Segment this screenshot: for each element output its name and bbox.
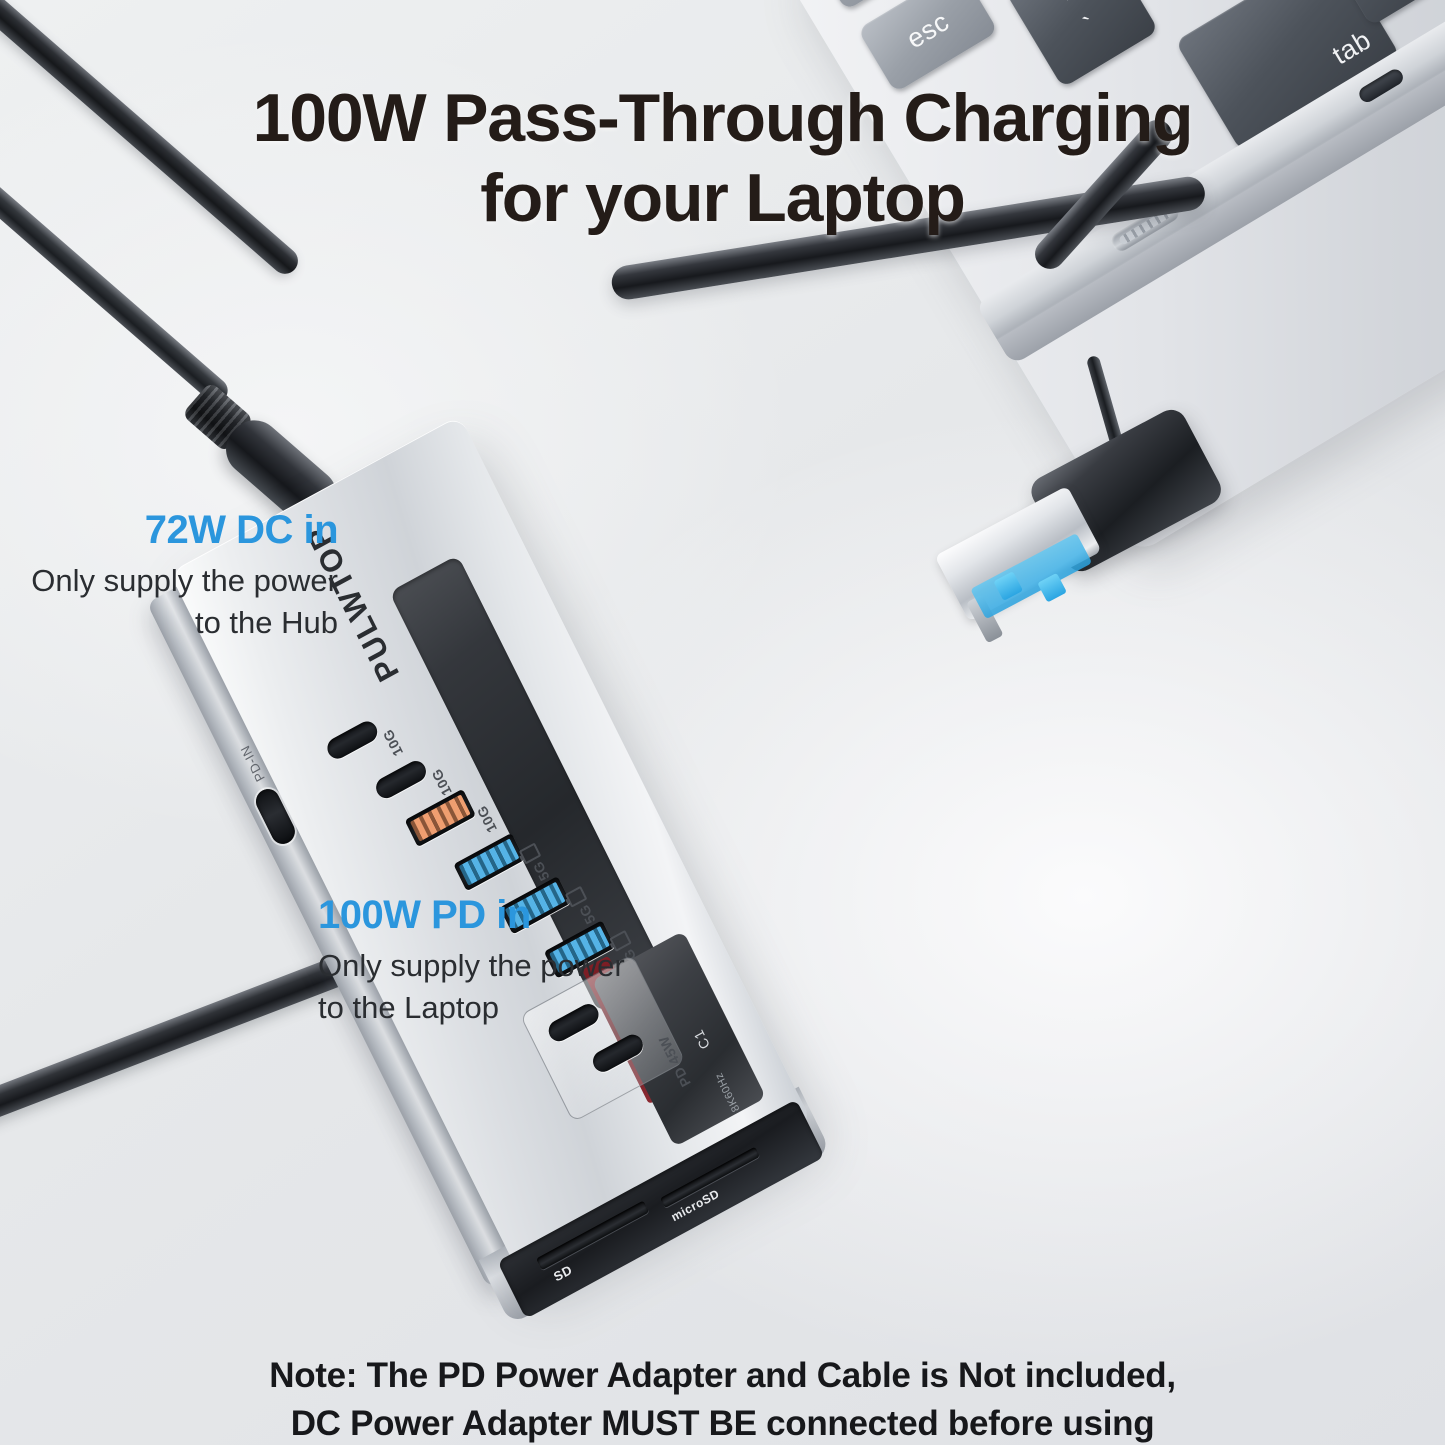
callout-pd-body: Only supply the power to the Laptop <box>318 945 658 1028</box>
note-line-2: DC Power Adapter MUST BE connected befor… <box>0 1400 1445 1445</box>
callout-dc-title: 72W DC in <box>18 508 338 552</box>
callout-pd-in: 100W PD in Only supply the power to the … <box>318 893 658 1028</box>
callout-pd-body-line-1: Only supply the power <box>318 945 658 987</box>
adapter-plug-tongue <box>970 533 1092 619</box>
callout-dc-body-line-2: to the Hub <box>18 602 338 644</box>
callout-dc-body-line-1: Only supply the power <box>18 560 338 602</box>
callout-dc-body: Only supply the power to the Hub <box>18 560 338 643</box>
adapter-usb-a-plug <box>935 486 1102 622</box>
note-line-1: Note: The PD Power Adapter and Cable is … <box>0 1352 1445 1400</box>
callout-pd-title: 100W PD in <box>318 893 658 937</box>
product-marketing-image: esc ! ~ ` tab 100W Pass-Through Charging… <box>0 0 1445 1445</box>
key-backtick-glyph: ` <box>1079 10 1103 41</box>
callout-dc-in: 72W DC in Only supply the power to the H… <box>18 508 338 643</box>
page-title: 100W Pass-Through Charging for your Lapt… <box>0 78 1445 238</box>
headline-line-1: 100W Pass-Through Charging <box>253 80 1193 156</box>
callout-pd-body-line-2: to the Laptop <box>318 987 658 1029</box>
disclaimer-note: Note: The PD Power Adapter and Cable is … <box>0 1352 1445 1445</box>
headline-line-2: for your Laptop <box>0 158 1445 238</box>
